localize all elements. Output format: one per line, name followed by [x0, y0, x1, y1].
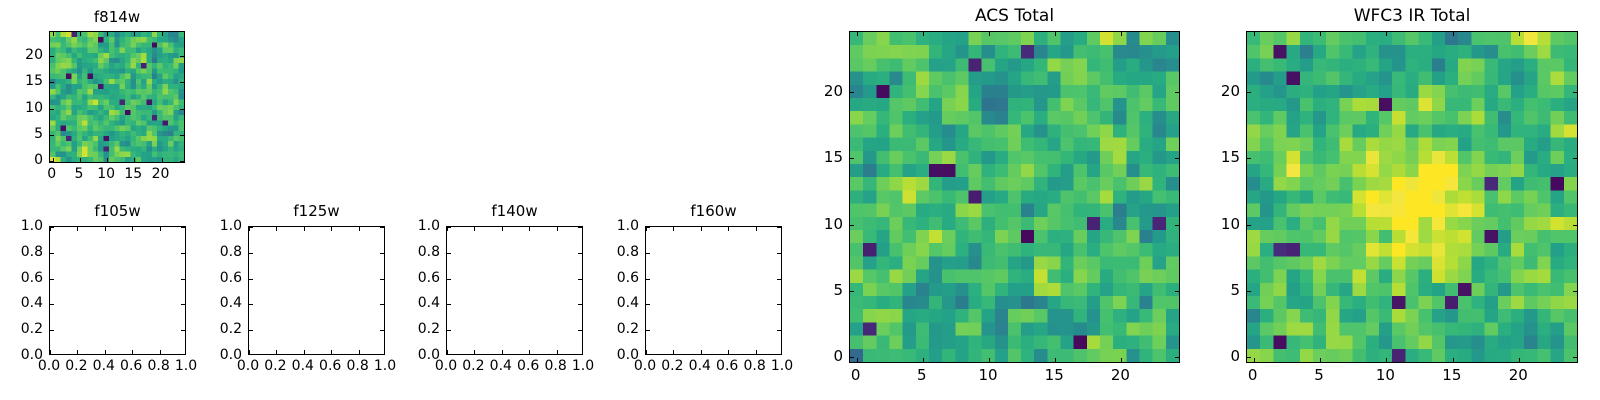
heatmap-image-f814w	[50, 32, 184, 162]
ytick-acs-total-3	[850, 158, 854, 159]
ytick-f814w-2	[50, 109, 54, 110]
xtick-top-acs-total-1	[923, 32, 924, 36]
xtick-f140w-2	[502, 350, 503, 354]
xtick-top-f125w-3	[331, 227, 332, 231]
ytick-f125w-1	[249, 330, 253, 331]
ytick-right-f160w-1	[777, 330, 781, 331]
ytick-f125w-4	[249, 253, 253, 254]
panel-title-f814w: f814w	[49, 8, 185, 26]
xticklabel-f160w-4: 0.8	[743, 358, 765, 374]
panel-f140w: f140w0.00.20.40.60.81.00.00.20.40.60.81.…	[446, 226, 583, 355]
xtick-f125w-1	[276, 350, 277, 354]
panel-f105w: f105w0.00.20.40.60.81.00.00.20.40.60.81.…	[49, 226, 186, 355]
xtick-top-f160w-2	[701, 227, 702, 231]
ytick-right-f140w-2	[578, 304, 582, 305]
yticklabel-f814w-0: 0	[34, 152, 43, 168]
xtick-wfc3-ir-total-0	[1254, 358, 1255, 362]
xticklabel-f105w-5: 1.0	[175, 358, 197, 374]
ytick-f140w-3	[447, 279, 451, 280]
xtick-f160w-1	[673, 350, 674, 354]
ytick-acs-total-1	[850, 291, 854, 292]
ytick-f105w-4	[50, 253, 54, 254]
ytick-right-acs-total-1	[1175, 291, 1179, 292]
yticklabel-f105w-4: 0.8	[21, 244, 43, 260]
panel-title-wfc3-ir-total: WFC3 IR Total	[1246, 6, 1578, 26]
xticklabel-f160w-1: 0.2	[661, 358, 683, 374]
ytick-f160w-1	[646, 330, 650, 331]
xtick-f125w-2	[304, 350, 305, 354]
xtick-top-f125w-4	[359, 227, 360, 231]
yticklabel-f105w-3: 0.6	[21, 270, 43, 286]
ytick-right-f814w-0	[180, 161, 184, 162]
xtick-acs-total-2	[989, 358, 990, 362]
xtick-f160w-2	[701, 350, 702, 354]
xticklabel-f105w-1: 0.2	[65, 358, 87, 374]
xtick-top-f140w-2	[502, 227, 503, 231]
xticklabel-f140w-3: 0.6	[517, 358, 539, 374]
yticklabel-acs-total-4: 20	[824, 82, 843, 100]
panel-wfc3-ir-total: WFC3 IR Total0510152005101520	[1246, 31, 1578, 363]
xtick-f160w-3	[728, 350, 729, 354]
matplotlib-figure: f814w0510152005101520f105w0.00.20.40.60.…	[0, 0, 1600, 400]
xticklabel-f125w-3: 0.6	[319, 358, 341, 374]
xtick-f814w-3	[134, 158, 135, 162]
ytick-right-acs-total-4	[1175, 92, 1179, 93]
yticklabel-f140w-5: 1.0	[418, 218, 440, 234]
yticklabel-f105w-0: 0.0	[21, 347, 43, 363]
ytick-right-f105w-2	[181, 304, 185, 305]
xticklabel-f105w-4: 0.8	[147, 358, 169, 374]
ytick-wfc3-ir-total-2	[1247, 225, 1251, 226]
panel-title-f160w: f160w	[645, 202, 782, 220]
xticklabel-f105w-3: 0.6	[120, 358, 142, 374]
ytick-right-f814w-2	[180, 109, 184, 110]
ytick-f125w-5	[249, 227, 253, 228]
ytick-acs-total-2	[850, 225, 854, 226]
xtick-f125w-3	[331, 350, 332, 354]
xtick-f140w-1	[474, 350, 475, 354]
ytick-right-f160w-2	[777, 304, 781, 305]
yticklabel-f105w-5: 1.0	[21, 218, 43, 234]
xtick-top-wfc3-ir-total-0	[1254, 32, 1255, 36]
ytick-f105w-1	[50, 330, 54, 331]
ytick-f140w-1	[447, 330, 451, 331]
xticklabel-f160w-3: 0.6	[716, 358, 738, 374]
yticklabel-f160w-3: 0.6	[617, 270, 639, 286]
ytick-right-acs-total-0	[1175, 357, 1179, 358]
xtick-top-f160w-3	[728, 227, 729, 231]
panel-f814w: f814w0510152005101520	[49, 31, 185, 163]
xticklabel-f140w-1: 0.2	[462, 358, 484, 374]
ytick-f814w-3	[50, 82, 54, 83]
ytick-right-f125w-1	[380, 330, 384, 331]
yticklabel-f160w-4: 0.8	[617, 244, 639, 260]
yticklabel-f140w-1: 0.2	[418, 321, 440, 337]
xticklabel-acs-total-3: 15	[1045, 366, 1064, 384]
ytick-right-f814w-1	[180, 135, 184, 136]
xticklabel-f160w-2: 0.4	[689, 358, 711, 374]
xtick-top-wfc3-ir-total-4	[1519, 32, 1520, 36]
xtick-top-acs-total-0	[857, 32, 858, 36]
axes-f140w	[446, 226, 583, 355]
xticklabel-f105w-2: 0.4	[93, 358, 115, 374]
yticklabel-f814w-4: 20	[25, 47, 43, 63]
ytick-f105w-5	[50, 227, 54, 228]
yticklabel-acs-total-2: 10	[824, 215, 843, 233]
xtick-f140w-3	[529, 350, 530, 354]
xtick-wfc3-ir-total-1	[1320, 358, 1321, 362]
yticklabel-f125w-3: 0.6	[220, 270, 242, 286]
xtick-f160w-0	[646, 350, 647, 354]
yticklabel-f140w-0: 0.0	[418, 347, 440, 363]
ytick-right-wfc3-ir-total-2	[1573, 225, 1577, 226]
ytick-right-f160w-4	[777, 253, 781, 254]
xtick-wfc3-ir-total-3	[1453, 358, 1454, 362]
xtick-top-f105w-4	[160, 227, 161, 231]
xticklabel-f814w-2: 10	[97, 166, 115, 182]
xtick-f140w-0	[447, 350, 448, 354]
ytick-right-f814w-3	[180, 82, 184, 83]
xticklabel-f160w-5: 1.0	[771, 358, 793, 374]
xtick-top-acs-total-2	[989, 32, 990, 36]
xticklabel-f125w-4: 0.8	[346, 358, 368, 374]
yticklabel-wfc3-ir-total-4: 20	[1221, 82, 1240, 100]
ytick-right-f140w-3	[578, 279, 582, 280]
xtick-top-f814w-1	[80, 32, 81, 36]
ytick-right-f105w-5	[181, 227, 185, 228]
yticklabel-f105w-2: 0.4	[21, 295, 43, 311]
ytick-right-wfc3-ir-total-1	[1573, 291, 1577, 292]
ytick-f105w-2	[50, 304, 54, 305]
xtick-f140w-4	[557, 350, 558, 354]
panel-acs-total: ACS Total0510152005101520	[849, 31, 1180, 363]
xticklabel-acs-total-0: 0	[851, 366, 861, 384]
xticklabel-f125w-2: 0.4	[292, 358, 314, 374]
ytick-right-f125w-3	[380, 279, 384, 280]
xtick-f105w-4	[160, 350, 161, 354]
xtick-acs-total-3	[1055, 358, 1056, 362]
yticklabel-f160w-0: 0.0	[617, 347, 639, 363]
ytick-right-f160w-5	[777, 227, 781, 228]
xticklabel-acs-total-2: 10	[978, 366, 997, 384]
ytick-right-f160w-3	[777, 279, 781, 280]
xtick-top-acs-total-3	[1055, 32, 1056, 36]
ytick-f160w-3	[646, 279, 650, 280]
xticklabel-acs-total-1: 5	[917, 366, 927, 384]
xticklabel-f125w-5: 1.0	[374, 358, 396, 374]
heatmap-image-wfc3-ir-total	[1247, 32, 1577, 362]
yticklabel-f125w-1: 0.2	[220, 321, 242, 337]
ytick-f125w-3	[249, 279, 253, 280]
ytick-wfc3-ir-total-0	[1247, 357, 1251, 358]
yticklabel-f160w-1: 0.2	[617, 321, 639, 337]
yticklabel-f814w-1: 5	[34, 126, 43, 142]
panel-title-f105w: f105w	[49, 202, 186, 220]
ytick-f160w-5	[646, 227, 650, 228]
xtick-f105w-1	[77, 350, 78, 354]
xtick-f160w-4	[756, 350, 757, 354]
ytick-right-f140w-4	[578, 253, 582, 254]
panel-title-f140w: f140w	[446, 202, 583, 220]
ytick-f105w-3	[50, 279, 54, 280]
xtick-f814w-2	[107, 158, 108, 162]
ytick-right-f125w-5	[380, 227, 384, 228]
xticklabel-f140w-4: 0.8	[544, 358, 566, 374]
ytick-right-wfc3-ir-total-4	[1573, 92, 1577, 93]
xtick-top-wfc3-ir-total-3	[1453, 32, 1454, 36]
yticklabel-wfc3-ir-total-1: 5	[1230, 281, 1240, 299]
xticklabel-f814w-1: 5	[74, 166, 83, 182]
xtick-top-f814w-2	[107, 32, 108, 36]
yticklabel-f125w-2: 0.4	[220, 295, 242, 311]
xticklabel-wfc3-ir-total-1: 5	[1314, 366, 1324, 384]
ytick-f814w-4	[50, 56, 54, 57]
xtick-f105w-3	[132, 350, 133, 354]
xtick-top-f140w-1	[474, 227, 475, 231]
xtick-top-f814w-0	[53, 32, 54, 36]
xtick-f125w-0	[249, 350, 250, 354]
xtick-f814w-4	[162, 158, 163, 162]
xticklabel-f140w-2: 0.4	[490, 358, 512, 374]
xticklabel-f814w-3: 15	[124, 166, 142, 182]
yticklabel-acs-total-1: 5	[833, 281, 843, 299]
yticklabel-wfc3-ir-total-2: 10	[1221, 215, 1240, 233]
xtick-top-f160w-1	[673, 227, 674, 231]
panel-f160w: f160w0.00.20.40.60.81.00.00.20.40.60.81.…	[645, 226, 782, 355]
ytick-wfc3-ir-total-4	[1247, 92, 1251, 93]
yticklabel-f814w-3: 15	[25, 73, 43, 89]
xticklabel-wfc3-ir-total-0: 0	[1248, 366, 1258, 384]
heatmap-image-acs-total	[850, 32, 1179, 362]
xtick-top-wfc3-ir-total-1	[1320, 32, 1321, 36]
xtick-top-f105w-1	[77, 227, 78, 231]
ytick-right-f125w-4	[380, 253, 384, 254]
xtick-top-wfc3-ir-total-2	[1386, 32, 1387, 36]
yticklabel-f140w-4: 0.8	[418, 244, 440, 260]
yticklabel-f140w-2: 0.4	[418, 295, 440, 311]
ytick-right-f105w-3	[181, 279, 185, 280]
ytick-right-f140w-5	[578, 227, 582, 228]
yticklabel-acs-total-0: 0	[833, 347, 843, 365]
ytick-f125w-2	[249, 304, 253, 305]
panel-title-f125w: f125w	[248, 202, 385, 220]
xticklabel-f814w-0: 0	[47, 166, 56, 182]
xticklabel-wfc3-ir-total-3: 15	[1442, 366, 1461, 384]
xtick-acs-total-4	[1121, 358, 1122, 362]
axes-f160w	[645, 226, 782, 355]
ytick-acs-total-0	[850, 357, 854, 358]
yticklabel-f140w-3: 0.6	[418, 270, 440, 286]
ytick-right-f125w-2	[380, 304, 384, 305]
xtick-acs-total-0	[857, 358, 858, 362]
xtick-top-f160w-4	[756, 227, 757, 231]
ytick-right-acs-total-2	[1175, 225, 1179, 226]
xtick-f125w-4	[359, 350, 360, 354]
ytick-right-acs-total-3	[1175, 158, 1179, 159]
yticklabel-f160w-2: 0.4	[617, 295, 639, 311]
ytick-f140w-4	[447, 253, 451, 254]
ytick-right-f140w-1	[578, 330, 582, 331]
ytick-wfc3-ir-total-3	[1247, 158, 1251, 159]
xticklabel-f125w-1: 0.2	[264, 358, 286, 374]
ytick-wfc3-ir-total-1	[1247, 291, 1251, 292]
panel-f125w: f125w0.00.20.40.60.81.00.00.20.40.60.81.…	[248, 226, 385, 355]
yticklabel-f125w-0: 0.0	[220, 347, 242, 363]
xtick-top-f140w-3	[529, 227, 530, 231]
ytick-f160w-2	[646, 304, 650, 305]
xticklabel-wfc3-ir-total-4: 20	[1509, 366, 1528, 384]
axes-f105w	[49, 226, 186, 355]
yticklabel-f105w-1: 0.2	[21, 321, 43, 337]
xticklabel-acs-total-4: 20	[1111, 366, 1130, 384]
xtick-f105w-2	[105, 350, 106, 354]
ytick-f160w-4	[646, 253, 650, 254]
xtick-top-f814w-3	[134, 32, 135, 36]
ytick-right-f814w-4	[180, 56, 184, 57]
xtick-wfc3-ir-total-4	[1519, 358, 1520, 362]
ytick-f814w-0	[50, 161, 54, 162]
xtick-f105w-0	[50, 350, 51, 354]
xtick-top-f140w-4	[557, 227, 558, 231]
yticklabel-wfc3-ir-total-3: 15	[1221, 148, 1240, 166]
xtick-f814w-1	[80, 158, 81, 162]
axes-acs-total	[849, 31, 1180, 363]
yticklabel-wfc3-ir-total-0: 0	[1230, 347, 1240, 365]
yticklabel-f814w-2: 10	[25, 100, 43, 116]
xticklabel-f140w-5: 1.0	[572, 358, 594, 374]
yticklabel-f160w-5: 1.0	[617, 218, 639, 234]
xtick-top-acs-total-4	[1121, 32, 1122, 36]
yticklabel-f125w-5: 1.0	[220, 218, 242, 234]
yticklabel-f125w-4: 0.8	[220, 244, 242, 260]
axes-wfc3-ir-total	[1246, 31, 1578, 363]
axes-f814w	[49, 31, 185, 163]
xtick-top-f125w-1	[276, 227, 277, 231]
panel-title-acs-total: ACS Total	[849, 6, 1180, 26]
ytick-right-f105w-1	[181, 330, 185, 331]
xticklabel-wfc3-ir-total-2: 10	[1376, 366, 1395, 384]
ytick-right-f105w-4	[181, 253, 185, 254]
xtick-top-f814w-4	[162, 32, 163, 36]
yticklabel-acs-total-3: 15	[824, 148, 843, 166]
ytick-f140w-2	[447, 304, 451, 305]
xtick-top-f125w-2	[304, 227, 305, 231]
ytick-f814w-1	[50, 135, 54, 136]
xtick-acs-total-1	[923, 358, 924, 362]
ytick-right-wfc3-ir-total-0	[1573, 357, 1577, 358]
xticklabel-f814w-4: 20	[152, 166, 170, 182]
xtick-top-f105w-3	[132, 227, 133, 231]
ytick-f140w-5	[447, 227, 451, 228]
xtick-top-f105w-2	[105, 227, 106, 231]
axes-f125w	[248, 226, 385, 355]
xtick-wfc3-ir-total-2	[1386, 358, 1387, 362]
ytick-acs-total-4	[850, 92, 854, 93]
ytick-right-wfc3-ir-total-3	[1573, 158, 1577, 159]
